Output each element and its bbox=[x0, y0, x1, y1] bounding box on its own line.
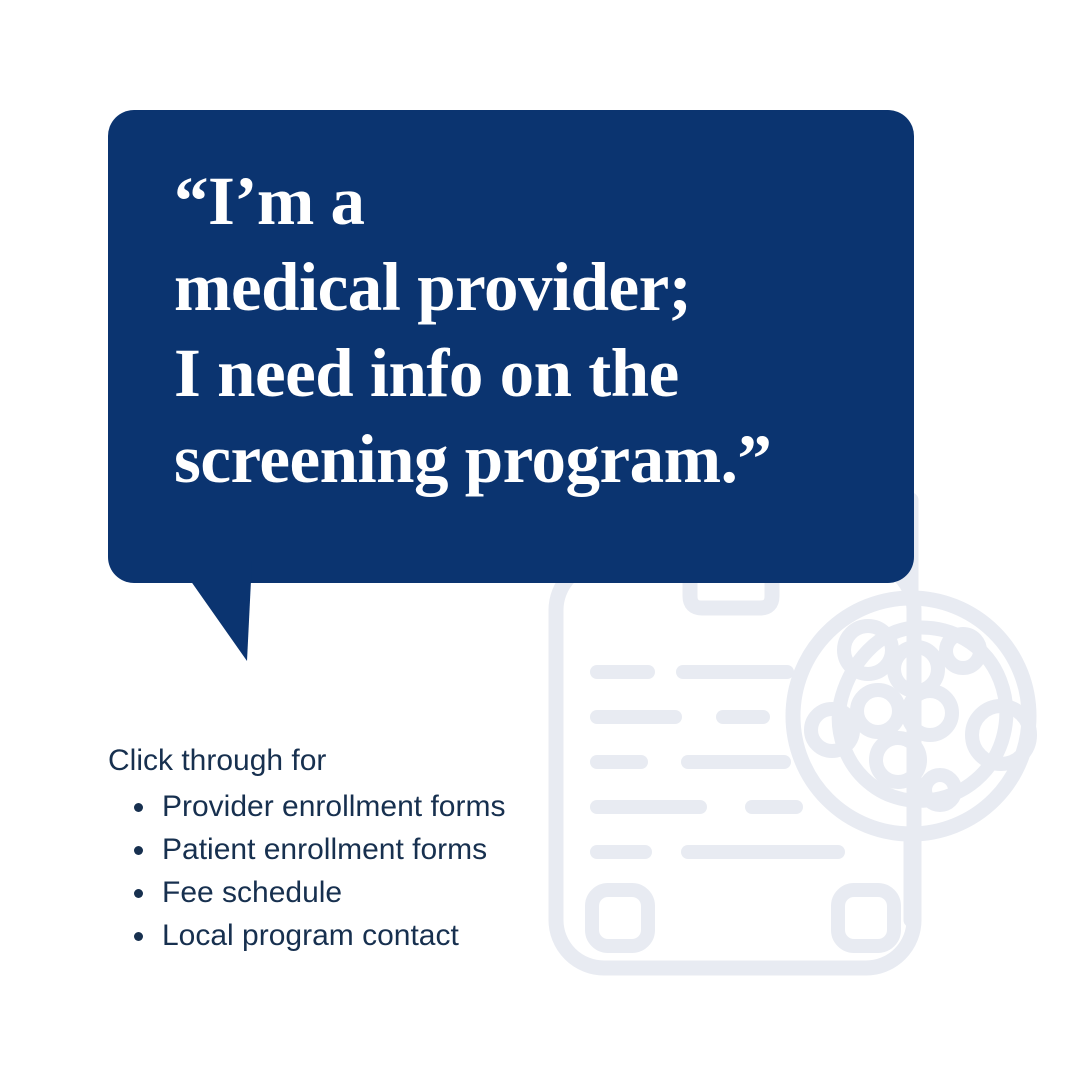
caption-block: Click through for Provider enrollment fo… bbox=[108, 742, 628, 957]
list-item[interactable]: Fee schedule bbox=[108, 871, 628, 914]
list-item-label: Fee schedule bbox=[162, 876, 342, 909]
list-item-label: Local program contact bbox=[162, 919, 459, 952]
quote-text: “I’m a medical provider; I need info on … bbox=[174, 158, 894, 502]
list-item[interactable]: Patient enrollment forms bbox=[108, 828, 628, 871]
list-item[interactable]: Local program contact bbox=[108, 914, 628, 957]
bullet-icon bbox=[134, 889, 143, 898]
list-item[interactable]: Provider enrollment forms bbox=[108, 785, 628, 828]
list-item-label: Patient enrollment forms bbox=[162, 833, 487, 866]
poster-canvas: “I’m a medical provider; I need info on … bbox=[0, 0, 1080, 1080]
caption-lead-text: Click through for bbox=[108, 742, 628, 780]
speech-bubble-tail-icon bbox=[176, 560, 252, 661]
bullet-icon bbox=[134, 932, 143, 941]
bullet-icon bbox=[134, 846, 143, 855]
click-through-list: Provider enrollment forms Patient enroll… bbox=[108, 785, 628, 957]
bullet-icon bbox=[134, 803, 143, 812]
list-item-label: Provider enrollment forms bbox=[162, 790, 505, 823]
